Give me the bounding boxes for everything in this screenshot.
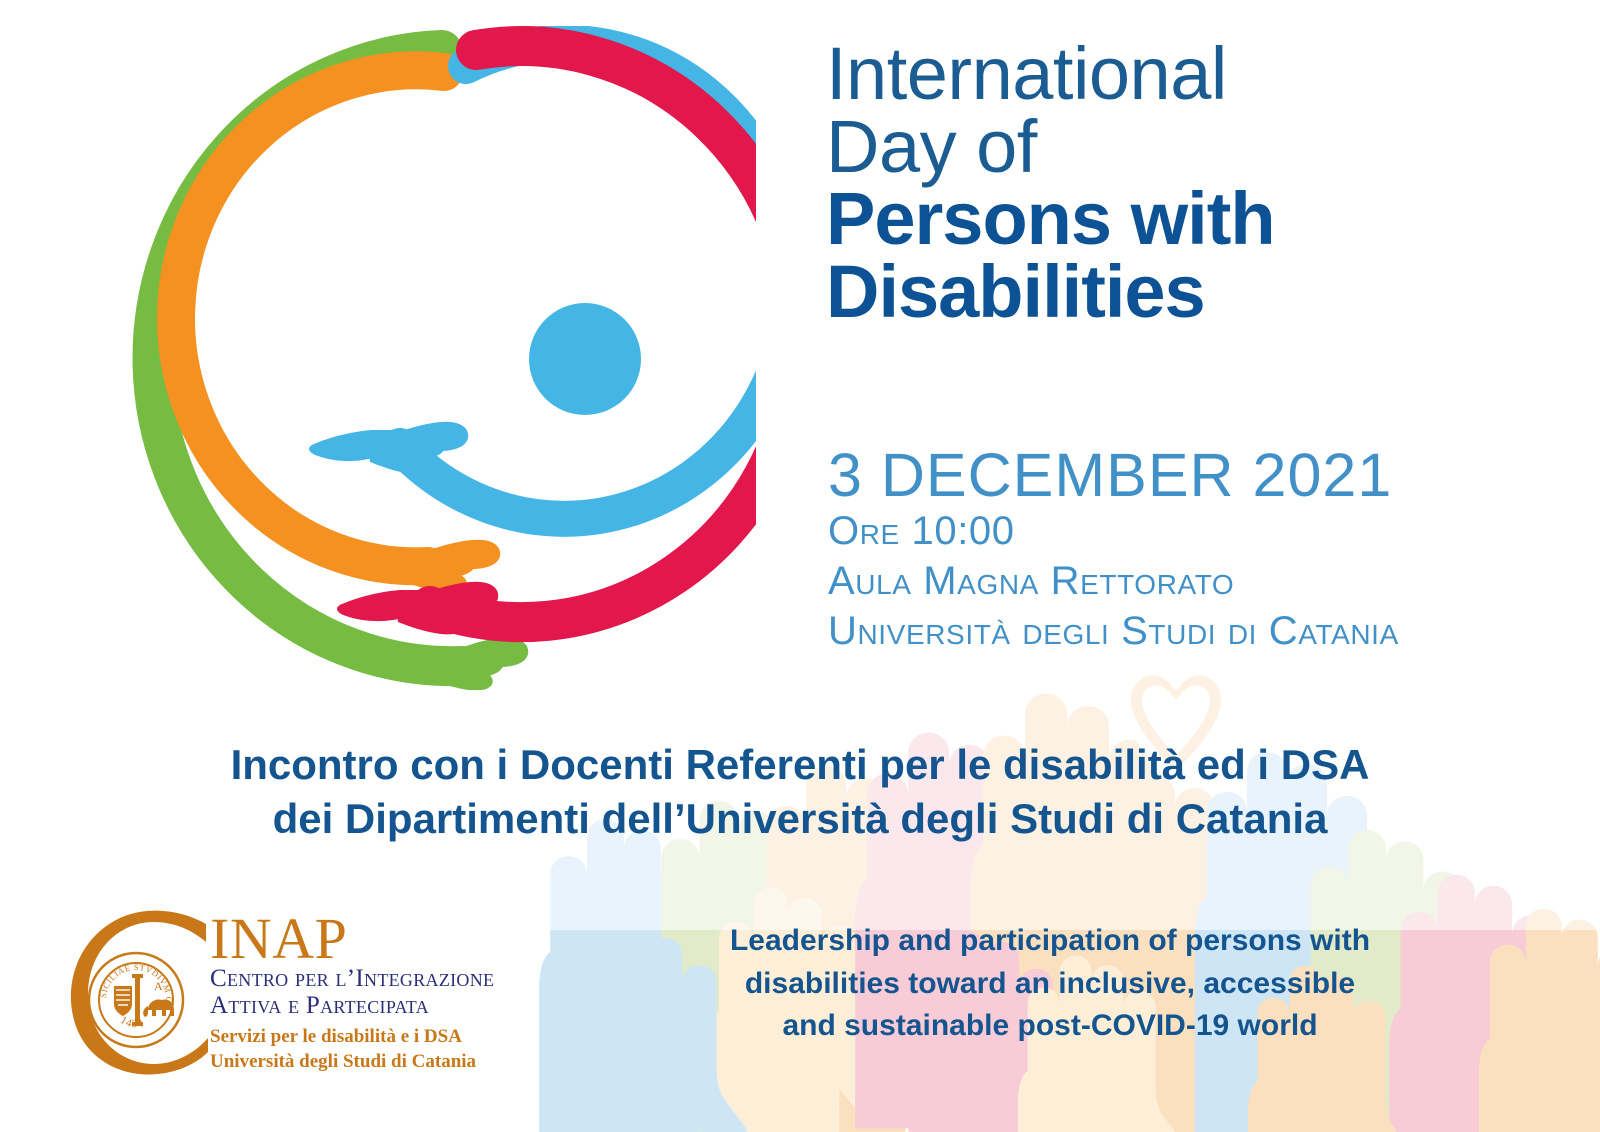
tagline-line-1: Leadership and participation of persons … (600, 920, 1500, 963)
cinap-logo: SICILIAE STVDIVM GENERALE 1434 (58, 906, 558, 1078)
headline-line-2: dei Dipartimenti dell’Università degli S… (0, 792, 1600, 846)
italian-headline: Incontro con i Docenti Referenti per le … (0, 738, 1600, 846)
title-line-2: Day of (826, 111, 1566, 184)
cinap-logo-text: INAP Centro per l’Integrazione Attiva e … (210, 912, 560, 1075)
event-venue: Aula Magna Rettorato (828, 556, 1588, 606)
headline-line-1: Incontro con i Docenti Referenti per le … (0, 738, 1600, 792)
cinap-services-1: Servizi per le disabilità e i DSA (210, 1025, 560, 1050)
cinap-acronym: INAP (210, 912, 560, 965)
title-line-4: Disabilities (826, 256, 1566, 329)
svg-text:A: A (154, 979, 163, 993)
title-line-3: Persons with (826, 183, 1566, 256)
event-time: Ore 10:00 (828, 506, 1588, 556)
cinap-subtitle-1: Centro per l’Integrazione (210, 965, 560, 992)
emblem-arc-orange (176, 70, 500, 592)
tagline-line-2: disabilities toward an inclusive, access… (600, 963, 1500, 1006)
english-tagline: Leadership and participation of persons … (600, 920, 1500, 1048)
poster-title: International Day of Persons with Disabi… (826, 38, 1566, 328)
event-institution: Università degli Studi di Catania (828, 606, 1588, 656)
cinap-subtitle-2: Attiva e Partecipata (210, 992, 560, 1019)
poster-canvas: International Day of Persons with Disabi… (0, 0, 1600, 1132)
idpd-emblem (128, 26, 756, 690)
event-details: 3 DECEMBER 2021 Ore 10:00 Aula Magna Ret… (828, 444, 1588, 656)
event-date: 3 DECEMBER 2021 (828, 444, 1588, 506)
cinap-logo-mark: SICILIAE STVDIVM GENERALE 1434 (58, 906, 218, 1078)
tagline-line-3: and sustainable post-COVID-19 world (600, 1005, 1500, 1048)
cinap-services-2: Università degli Studi di Catania (210, 1050, 560, 1075)
title-line-1: International (826, 38, 1566, 111)
emblem-head-circle (529, 303, 641, 415)
